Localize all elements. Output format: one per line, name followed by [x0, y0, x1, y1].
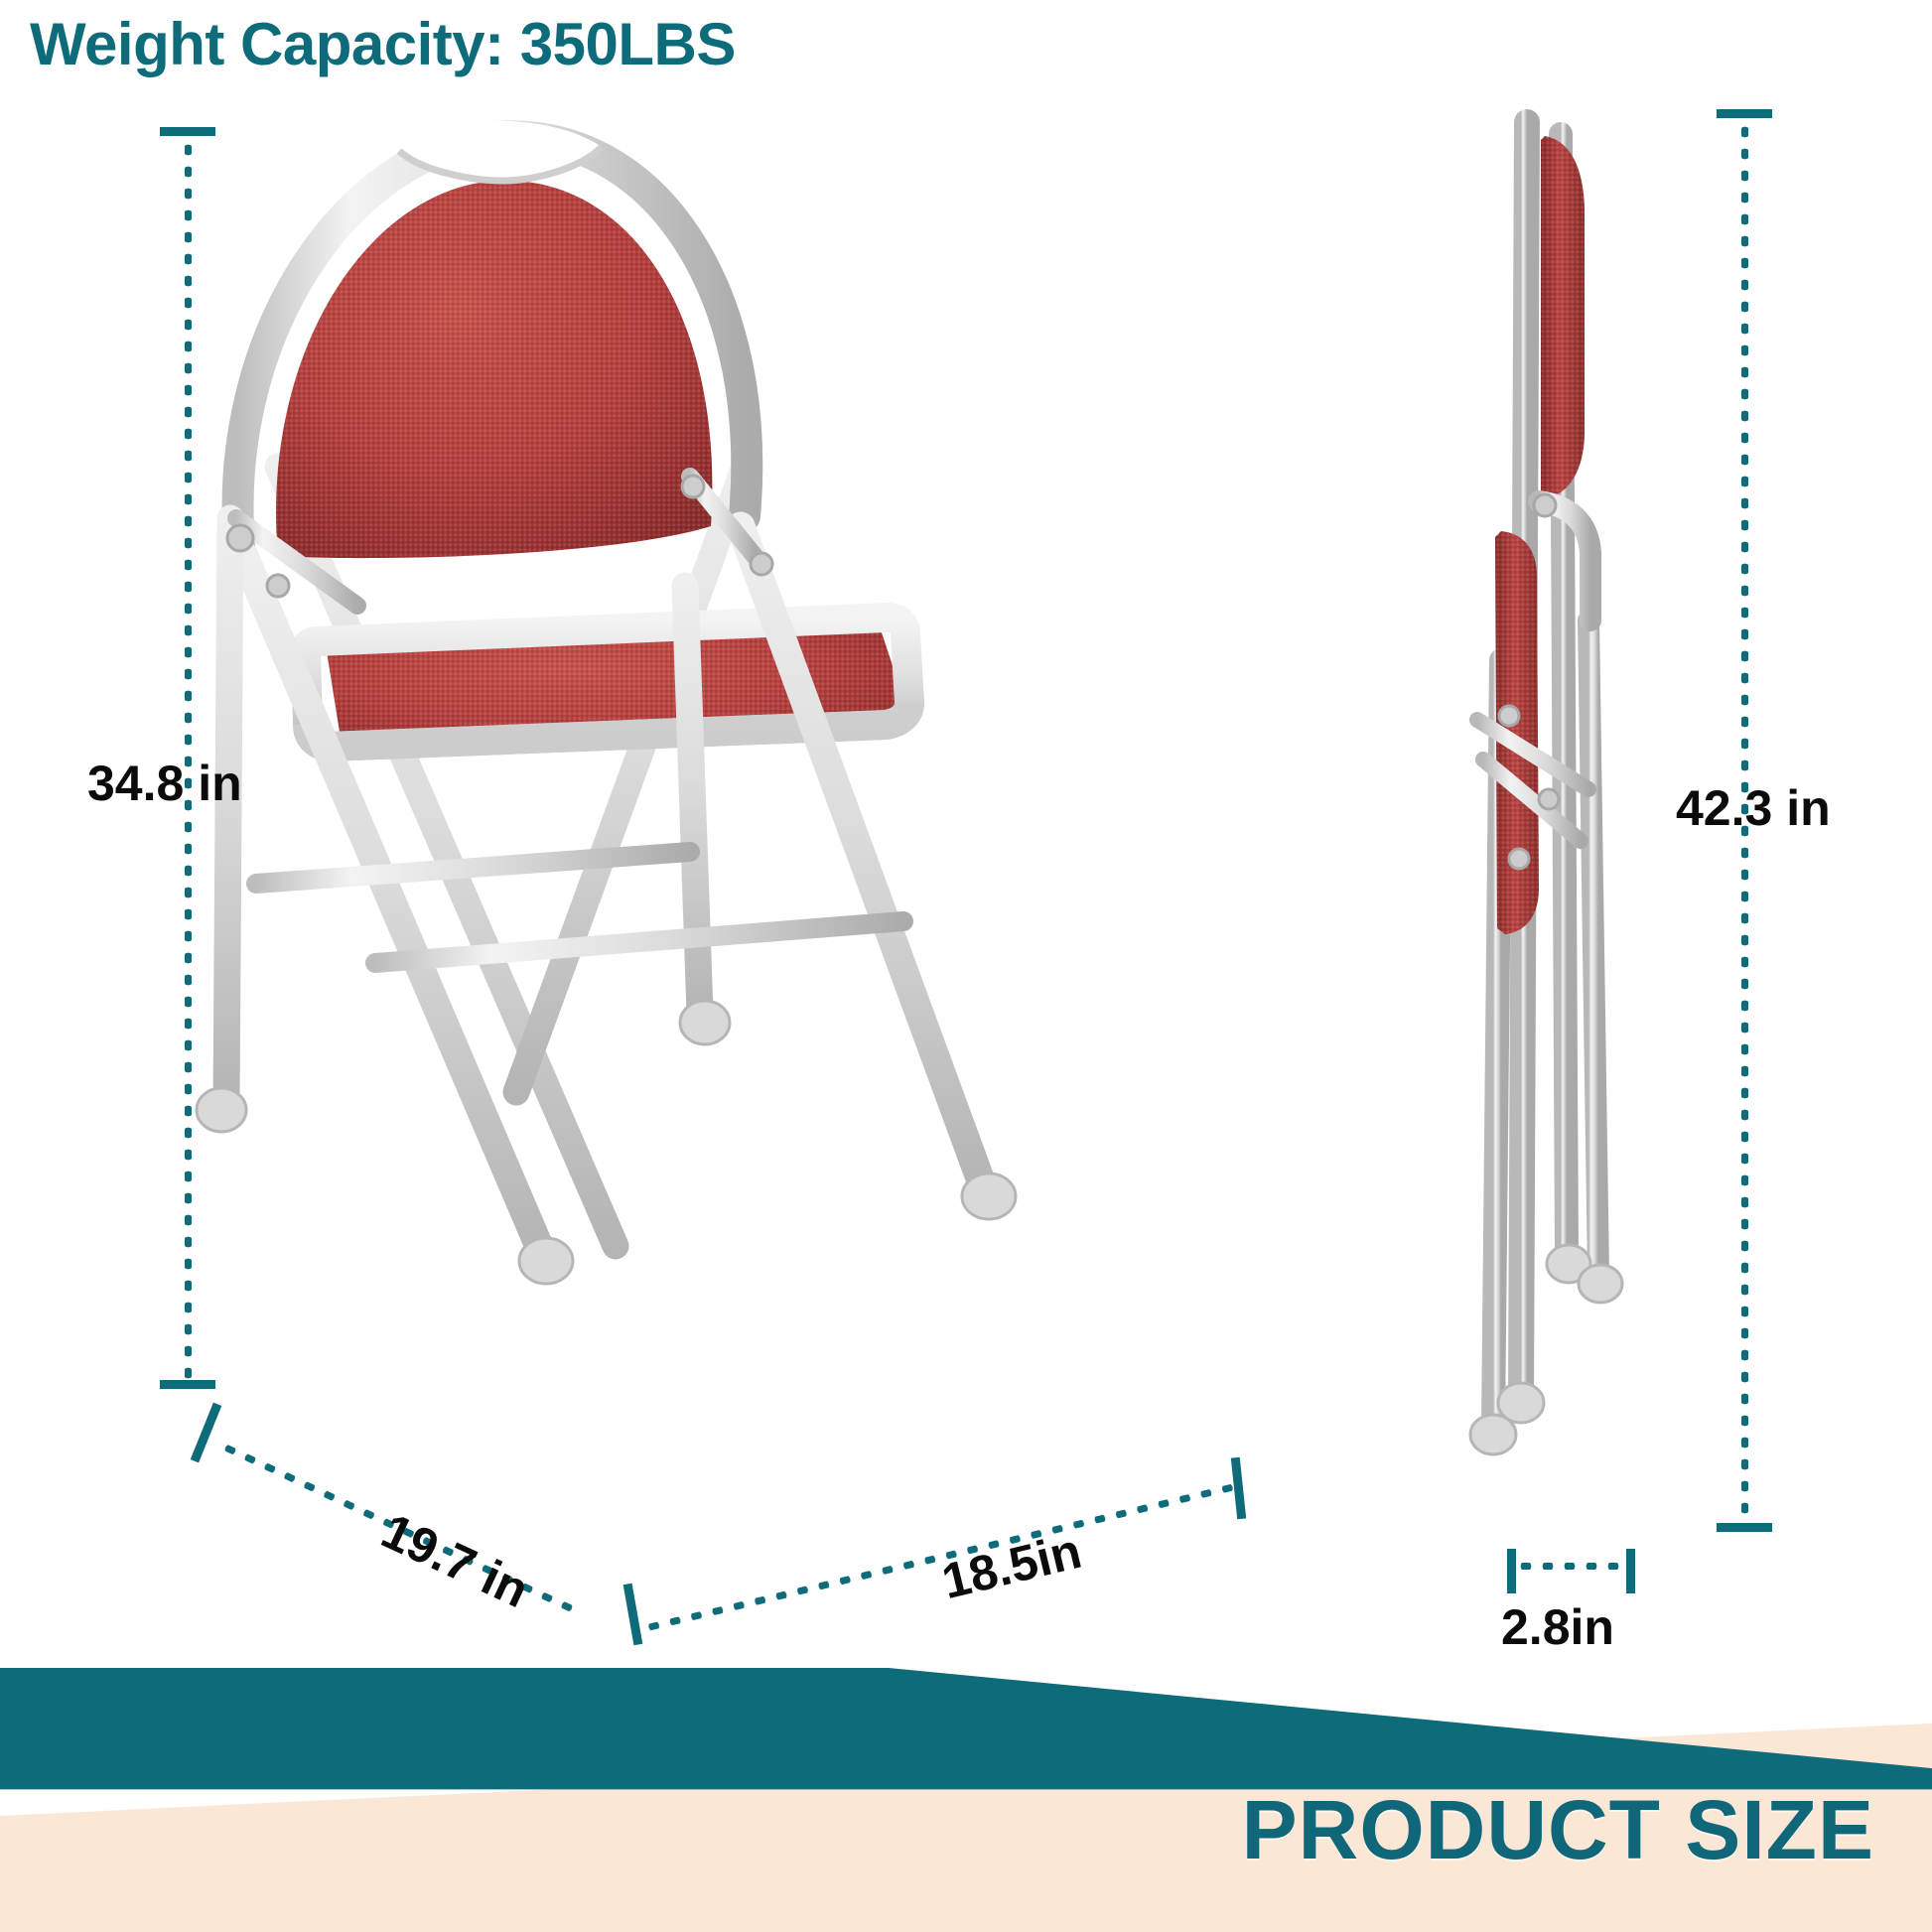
- dimension-label-depth-folded: 2.8in: [1501, 1598, 1614, 1656]
- dimension-label-height-folded: 42.3 in: [1676, 779, 1831, 837]
- dimension-tick-depth-folded-left: [1507, 1549, 1516, 1593]
- dimension-tick-depth-folded-right: [1626, 1549, 1635, 1593]
- dimension-cap-height-folded-top: [1717, 109, 1772, 118]
- dimension-label-depth-open: 19.7 in: [373, 1502, 538, 1619]
- dimension-label-height-open: 34.8 in: [87, 755, 242, 812]
- product-size-title: PRODUCT SIZE: [1242, 1782, 1874, 1878]
- dimension-tick-width-open-end: [1231, 1457, 1246, 1520]
- dimension-label-width-open: 18.5in: [936, 1522, 1086, 1610]
- weight-capacity-title: Weight Capacity: 350LBS: [30, 10, 736, 78]
- dimension-cap-height-folded-bottom: [1717, 1523, 1772, 1532]
- dimension-tick-width-open-start: [623, 1584, 643, 1646]
- chair-open-view-illustration: [149, 89, 1152, 1370]
- dimension-cap-height-open-top: [160, 127, 215, 136]
- product-size-infographic: Weight Capacity: 350LBS: [0, 0, 1932, 1932]
- dimension-cap-height-open-bottom: [160, 1380, 215, 1389]
- dimension-leader-depth-folded: [1515, 1563, 1626, 1570]
- dimension-tick-depth-open-start: [191, 1403, 222, 1463]
